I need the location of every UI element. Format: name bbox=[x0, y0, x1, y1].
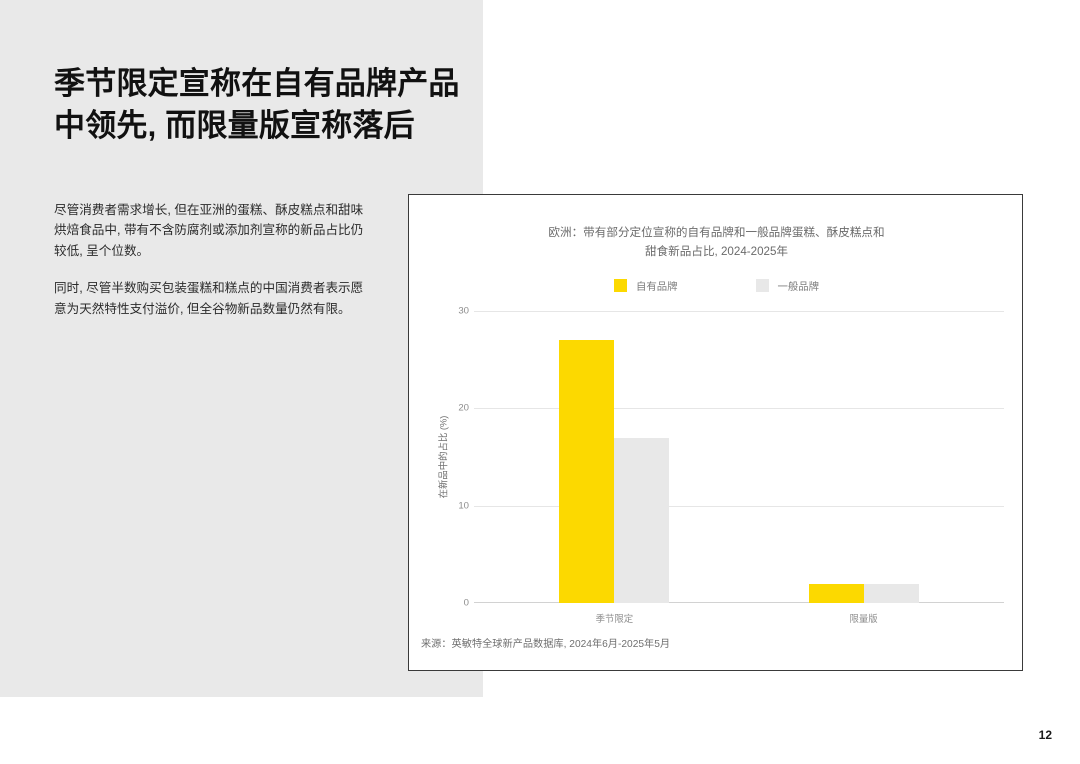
gridline bbox=[474, 408, 1004, 409]
y-tick-label: 30 bbox=[429, 306, 469, 317]
legend-item-branded[interactable]: 一般品牌 bbox=[756, 278, 820, 293]
legend-label: 一般品牌 bbox=[778, 278, 820, 293]
chart-title: 欧洲：带有部分定位宣称的自有品牌和一般品牌蛋糕、酥皮糕点和 甜食新品占比, 20… bbox=[459, 223, 974, 261]
page-title: 季节限定宣称在自有品牌产品 中领先, 而限量版宣称落后 bbox=[54, 63, 574, 147]
y-tick-label: 0 bbox=[429, 598, 469, 609]
legend-swatch-icon bbox=[614, 279, 627, 292]
legend-swatch-icon bbox=[756, 279, 769, 292]
y-tick-label: 20 bbox=[429, 403, 469, 414]
body-paragraph-2: 同时, 尽管半数购买包装蛋糕和糕点的中国消费者表示愿意为天然特性支付溢价, 但全… bbox=[54, 278, 366, 319]
x-tick-label: 季节限定 bbox=[554, 611, 674, 625]
bar[interactable] bbox=[614, 438, 669, 603]
body-copy: 尽管消费者需求增长, 但在亚洲的蛋糕、酥皮糕点和甜味烘焙食品中, 带有不含防腐剂… bbox=[54, 200, 366, 319]
legend-label: 自有品牌 bbox=[636, 278, 678, 293]
bar-group bbox=[559, 311, 669, 603]
chart-legend: 自有品牌 一般品牌 bbox=[409, 278, 1024, 293]
bar[interactable] bbox=[809, 584, 864, 603]
bar[interactable] bbox=[559, 340, 614, 603]
source-note: 来源：英敏特全球新产品数据库, 2024年6月-2025年5月 bbox=[421, 635, 670, 650]
gridline bbox=[474, 506, 1004, 507]
chart-card: 欧洲：带有部分定位宣称的自有品牌和一般品牌蛋糕、酥皮糕点和 甜食新品占比, 20… bbox=[408, 194, 1023, 671]
plot-area: 0102030季节限定限量版 bbox=[474, 311, 1004, 603]
body-paragraph-1: 尽管消费者需求增长, 但在亚洲的蛋糕、酥皮糕点和甜味烘焙食品中, 带有不含防腐剂… bbox=[54, 200, 366, 261]
axis-baseline bbox=[474, 602, 1004, 603]
bar-group bbox=[809, 311, 919, 603]
x-tick-label: 限量版 bbox=[804, 611, 924, 625]
legend-item-private-label[interactable]: 自有品牌 bbox=[614, 278, 678, 293]
page-number: 12 bbox=[1039, 728, 1052, 742]
gridline bbox=[474, 311, 1004, 312]
y-axis-title-text: 在新品中的占比 (%) bbox=[435, 416, 449, 499]
bar[interactable] bbox=[864, 584, 919, 603]
y-tick-label: 10 bbox=[429, 500, 469, 511]
y-axis-title: 在新品中的占比 (%) bbox=[435, 311, 449, 603]
